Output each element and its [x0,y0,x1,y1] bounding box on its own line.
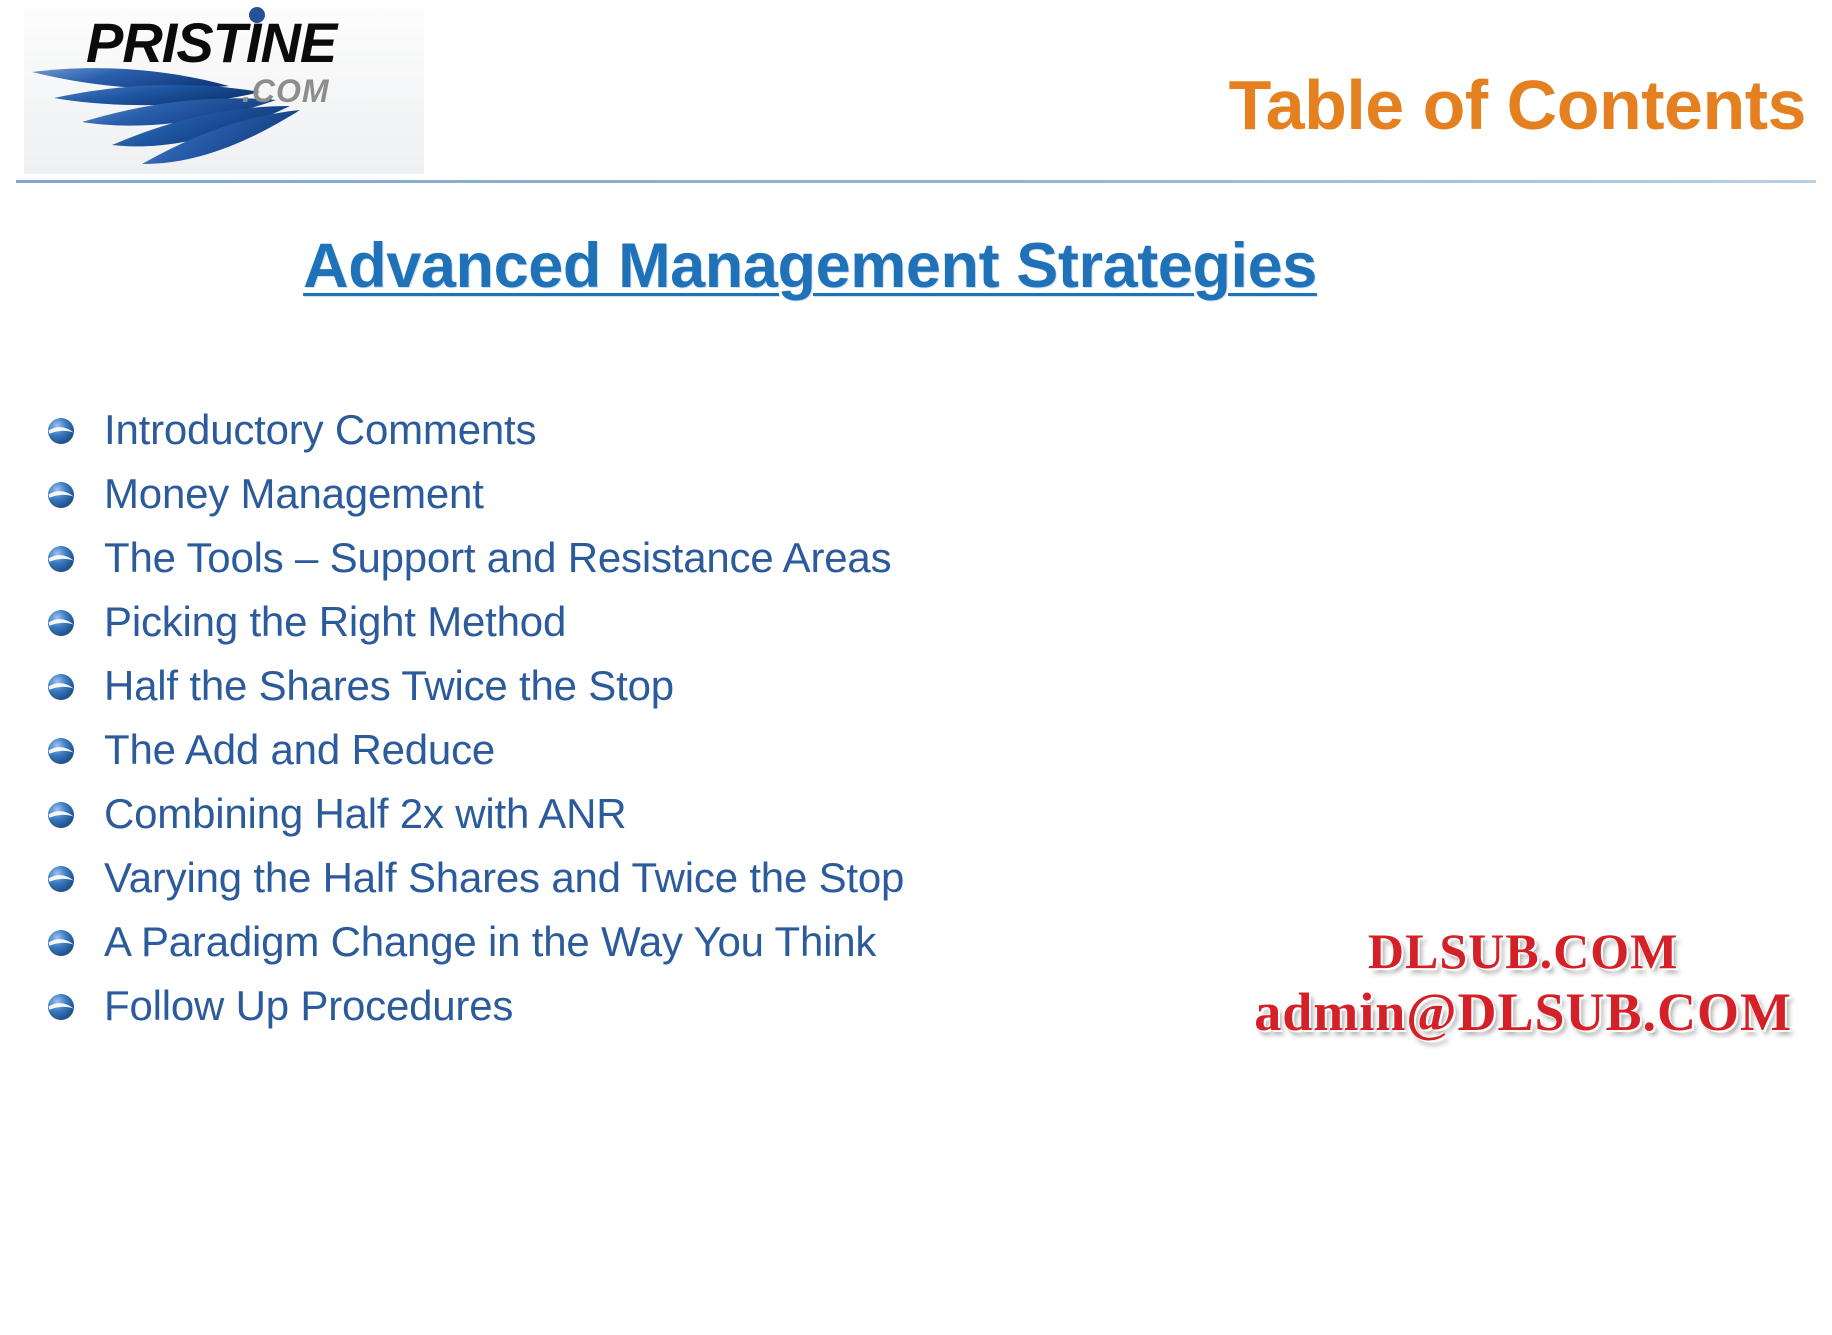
blue-globe-bullet-icon [46,608,76,638]
section-title: Table of Contents [1229,66,1806,144]
list-item-label: A Paradigm Change in the Way You Think [104,918,876,966]
list-item[interactable]: A Paradigm Change in the Way You Think [46,910,1346,974]
blue-globe-bullet-icon [46,672,76,702]
list-item[interactable]: Picking the Right Method [46,590,1346,654]
page-title: Advanced Management Strategies [0,228,1620,304]
blue-globe-bullet-icon [46,800,76,830]
header-divider [16,180,1816,183]
list-item[interactable]: Varying the Half Shares and Twice the St… [46,846,1346,910]
list-item-label: The Add and Reduce [104,726,495,774]
slide-header: PRISTINE .COM Table of Contents [0,0,1832,200]
list-item[interactable]: The Tools – Support and Resistance Areas [46,526,1346,590]
slide: PRISTINE .COM Table of Contents Advanced… [0,0,1832,1335]
pristine-logo: PRISTINE .COM [24,6,424,174]
list-item-label: Follow Up Procedures [104,982,513,1030]
watermark-site: DLSUB.COM [1254,922,1792,981]
pristine-logo-graphic: PRISTINE .COM [24,6,424,174]
list-item[interactable]: Half the Shares Twice the Stop [46,654,1346,718]
watermark-email: admin@DLSUB.COM [1254,981,1792,1045]
list-item[interactable]: Follow Up Procedures [46,974,1346,1038]
list-item-label: Varying the Half Shares and Twice the St… [104,854,904,902]
blue-globe-bullet-icon [46,480,76,510]
table-of-contents-list: Introductory Comments Money Management T… [46,398,1346,1038]
blue-globe-bullet-icon [46,928,76,958]
list-item-label: The Tools – Support and Resistance Areas [104,534,891,582]
list-item[interactable]: The Add and Reduce [46,718,1346,782]
blue-globe-bullet-icon [46,544,76,574]
list-item[interactable]: Introductory Comments [46,398,1346,462]
watermark: DLSUB.COM admin@DLSUB.COM [1254,922,1792,1045]
pristine-dotcom-text: .COM [242,73,330,109]
list-item-label: Picking the Right Method [104,598,566,646]
pristine-wordmark-text: PRISTINE [86,11,339,74]
blue-globe-bullet-icon [46,864,76,894]
blue-globe-bullet-icon [46,736,76,766]
blue-globe-bullet-icon [46,416,76,446]
list-item-label: Combining Half 2x with ANR [104,790,626,838]
blue-globe-bullet-icon [46,992,76,1022]
list-item-label: Introductory Comments [104,406,536,454]
list-item-label: Money Management [104,470,484,518]
list-item[interactable]: Money Management [46,462,1346,526]
list-item-label: Half the Shares Twice the Stop [104,662,674,710]
list-item[interactable]: Combining Half 2x with ANR [46,782,1346,846]
